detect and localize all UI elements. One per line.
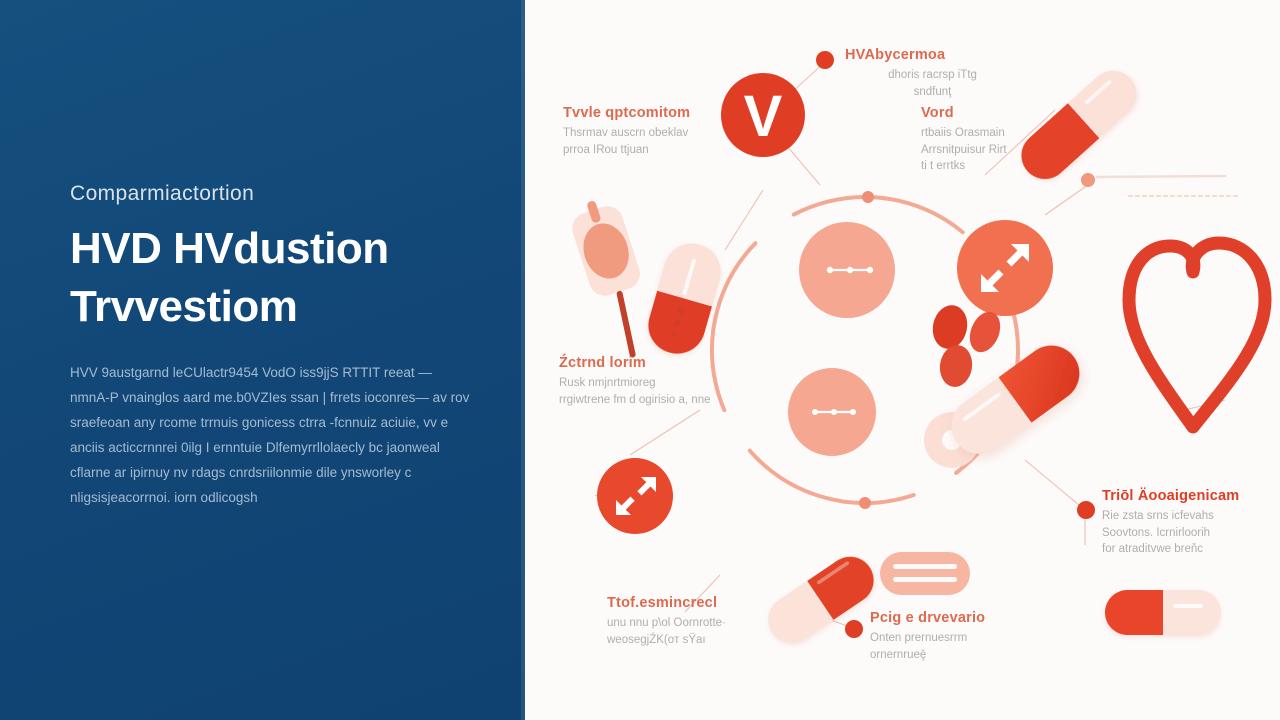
callout-title: HVAbycermoa <box>845 47 1020 63</box>
page-title: HVD HVdustion Trvvestiom <box>70 220 500 336</box>
description-paragraph: HVV 9austgarnd leCUlactr9454 VodO iss9jj… <box>70 360 470 510</box>
tablet-pills-icon <box>929 302 1006 389</box>
callout-treatment-options[interactable]: Tvvle qptcomitom Thsrmav auscrn obeklav … <box>563 105 733 158</box>
callout-body: Rusk nmjnrtmioreg rrgiwtrene fm d ogiris… <box>559 375 749 408</box>
callout-title: Tvvle qptcomitom <box>563 105 733 121</box>
ring-node-bottom <box>859 497 871 509</box>
dashed-decor-line <box>1081 173 1237 196</box>
expand-bubble-upper-right[interactable] <box>957 220 1053 316</box>
callout-body: rtbaiis Orasmain Arrsnitpuisur Rirt ti t… <box>921 125 1051 175</box>
vaccine-badge[interactable]: V <box>721 73 805 157</box>
list-lines-chip-icon <box>880 552 970 595</box>
callout-page-diversio[interactable]: Pcig e drvevario Onten prernuesrrm orner… <box>870 610 1030 663</box>
callout-body: dhoris racrsp iTtg sndfunţ <box>845 67 1020 100</box>
diagram-panel: V <box>525 0 1280 720</box>
callout-title: Pcig e drvevario <box>870 610 1030 626</box>
vaccine-badge-letter: V <box>744 84 783 149</box>
callout-title: Ttof.esmincrecl <box>607 595 787 611</box>
callout-treatment-protocol[interactable]: Ttof.esmincrecl unu nnu p\ol Oornrotte· … <box>607 595 787 648</box>
callout-full-accoigenicam[interactable]: Triōl Äooaigenicam Rie zsta srns icfevah… <box>1102 488 1277 558</box>
bullet-full-accoigenicam <box>1077 501 1095 519</box>
expand-bubble-lower-left[interactable] <box>597 458 673 534</box>
callout-body: Onten prernuesrrm ornernrueȩ̄ <box>870 630 1030 663</box>
eyebrow-text: Comparmiactortion <box>70 182 254 206</box>
description-text: HVV 9austgarnd leCUlactr9454 VodO iss9jj… <box>70 360 470 510</box>
capsule-bottom-right-icon <box>1105 590 1221 635</box>
infographic-slide: Comparmiactortion HVD HVdustion Trvvesti… <box>0 0 1280 720</box>
callout-title: Triōl Äooaigenicam <box>1102 488 1277 504</box>
metric-bubble-upper-left <box>799 222 895 318</box>
heart-outline-icon <box>1129 243 1265 427</box>
ring-node-top <box>862 191 874 203</box>
bullet-hyperglycemia <box>816 51 834 69</box>
callout-body: unu nnu p\ol Oornrotte· weosegjŹK(oт sŸa… <box>607 615 787 648</box>
callout-body: Rie zsta srns icfevahs Soovtons. Icrnirl… <box>1102 508 1277 558</box>
callout-second-form[interactable]: Źctrnd lorim Rusk nmjnrtmioreg rrgiwtren… <box>559 355 749 408</box>
callout-word[interactable]: Vord rtbaiis Orasmain Arrsnitpuisur Rirt… <box>921 105 1051 175</box>
center-ring <box>680 165 1051 536</box>
bullet-page-diversio <box>845 620 863 638</box>
callout-title: Vord <box>921 105 1051 121</box>
callout-title: Źctrnd lorim <box>559 355 749 371</box>
title-panel: Comparmiactortion HVD HVdustion Trvvesti… <box>0 0 525 720</box>
metric-bubble-lower-left <box>788 368 876 456</box>
headline-line-1: HVD HVdustion <box>70 224 389 273</box>
syringe-icon <box>565 194 664 364</box>
callout-body: Thsrmav auscrn obeklav prroa IRou ttjuan <box>563 125 733 158</box>
headline-line-2: Trvvestiom <box>70 278 500 336</box>
capsule-left-icon <box>642 237 728 360</box>
callout-hyperglycemia[interactable]: HVAbycermoa dhoris racrsp iTtg sndfunţ <box>845 47 1020 100</box>
